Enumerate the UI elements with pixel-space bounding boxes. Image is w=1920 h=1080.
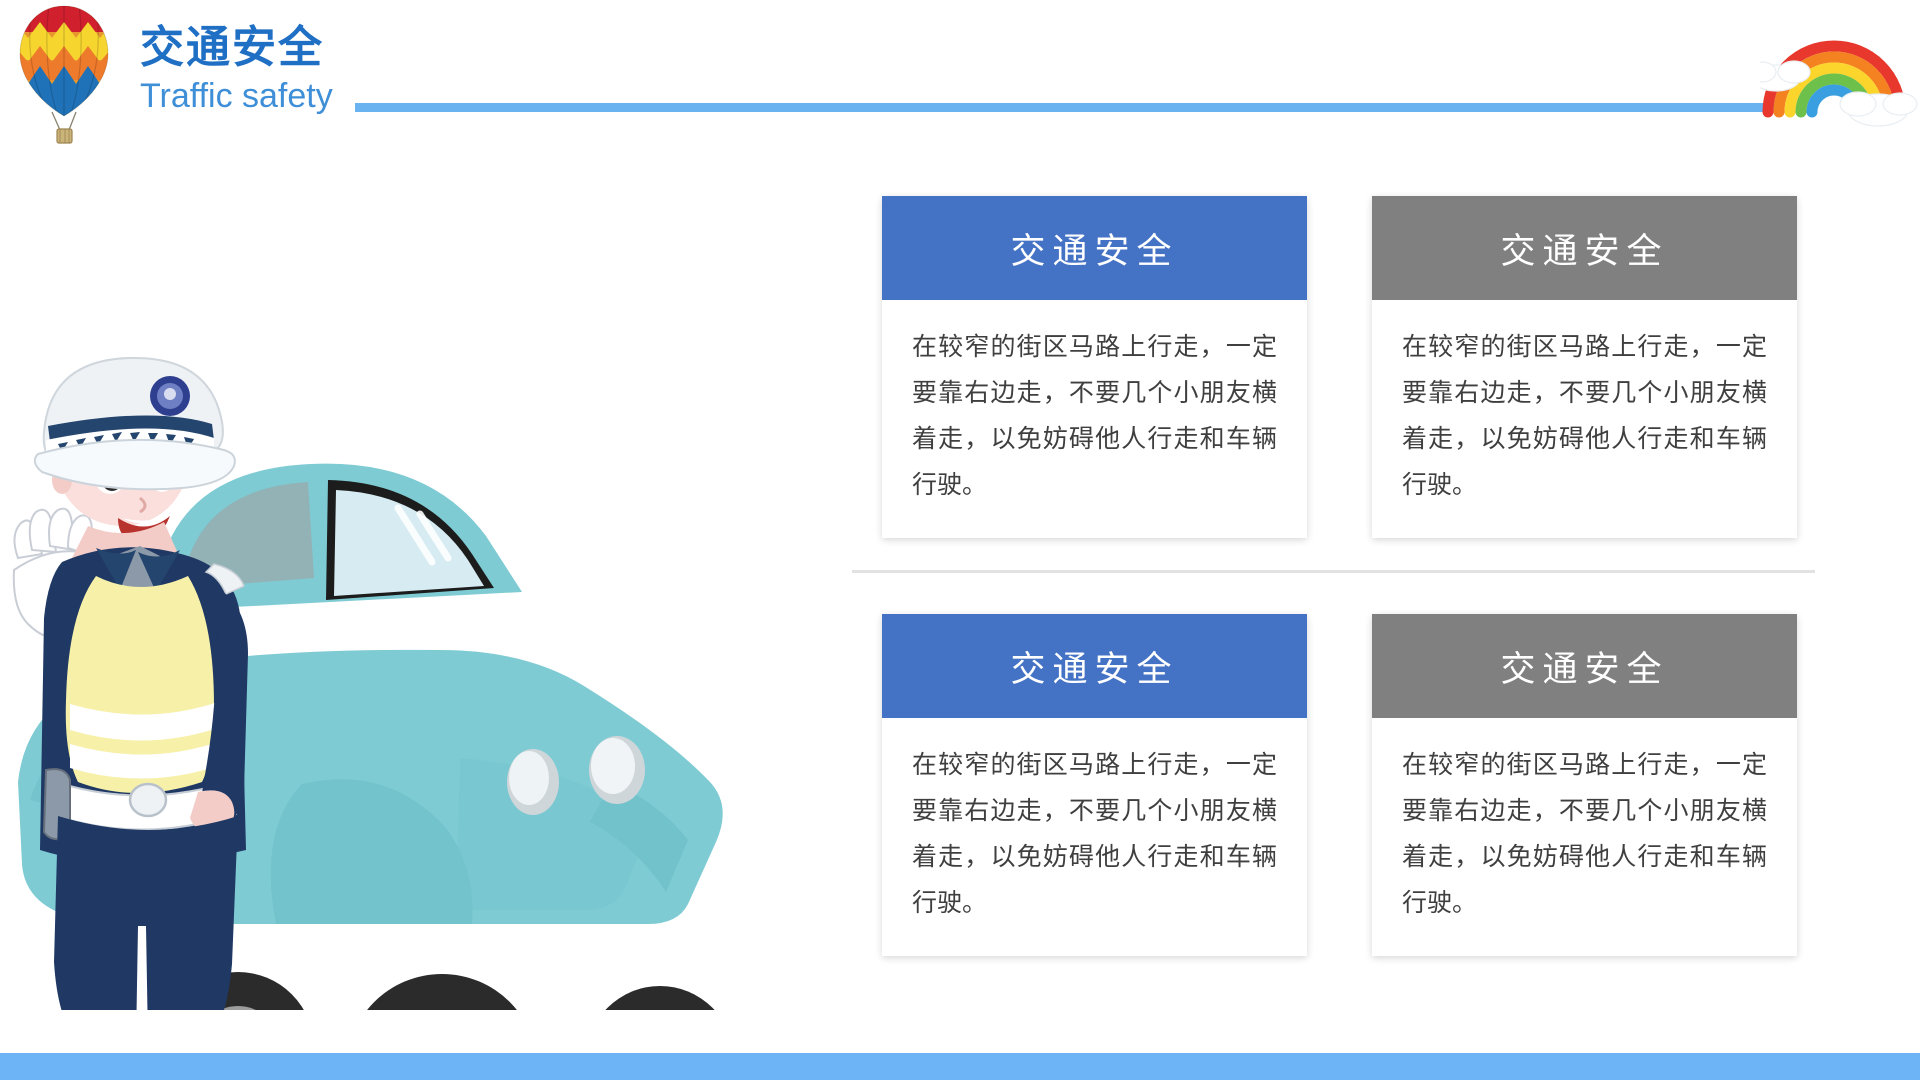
info-card[interactable]: 交通安全 在较窄的街区马路上行走，一定要靠右边走，不要几个小朋友横着走，以免妨碍… [1372,196,1797,538]
hot-air-balloon-icon [16,2,112,150]
info-card[interactable]: 交通安全 在较窄的街区马路上行走，一定要靠右边走，不要几个小朋友横着走，以免妨碍… [882,196,1307,538]
slide-root: 交通安全 Traffic safety [0,0,1920,1080]
card-header: 交通安全 [882,614,1307,718]
info-card[interactable]: 交通安全 在较窄的街区马路上行走，一定要靠右边走，不要几个小朋友横着走，以免妨碍… [1372,614,1797,956]
cards-divider [852,570,1815,573]
info-card[interactable]: 交通安全 在较窄的街区马路上行走，一定要靠右边走，不要几个小朋友横着走，以免妨碍… [882,614,1307,956]
card-body: 在较窄的街区马路上行走，一定要靠右边走，不要几个小朋友横着走，以免妨碍他人行走和… [1372,718,1797,956]
card-body: 在较窄的街区马路上行走，一定要靠右边走，不要几个小朋友横着走，以免妨碍他人行走和… [1372,300,1797,538]
card-body: 在较窄的街区马路上行走，一定要靠右边走，不要几个小朋友横着走，以免妨碍他人行走和… [882,300,1307,538]
page-title-en: Traffic safety [140,76,333,116]
slide-header: 交通安全 Traffic safety [0,0,1920,150]
header-divider-line [355,103,1780,112]
traffic-scene-illustration [0,330,880,1010]
card-header: 交通安全 [1372,614,1797,718]
footer-accent-bar [0,1053,1920,1080]
rainbow-cloud-icon [1760,0,1920,128]
card-header: 交通安全 [882,196,1307,300]
card-header: 交通安全 [1372,196,1797,300]
traffic-policeman-illustration [14,358,262,1010]
card-body: 在较窄的街区马路上行走，一定要靠右边走，不要几个小朋友横着走，以免妨碍他人行走和… [882,718,1307,956]
page-title: 交通安全 Traffic safety [140,22,333,116]
page-title-cn: 交通安全 [140,22,333,74]
